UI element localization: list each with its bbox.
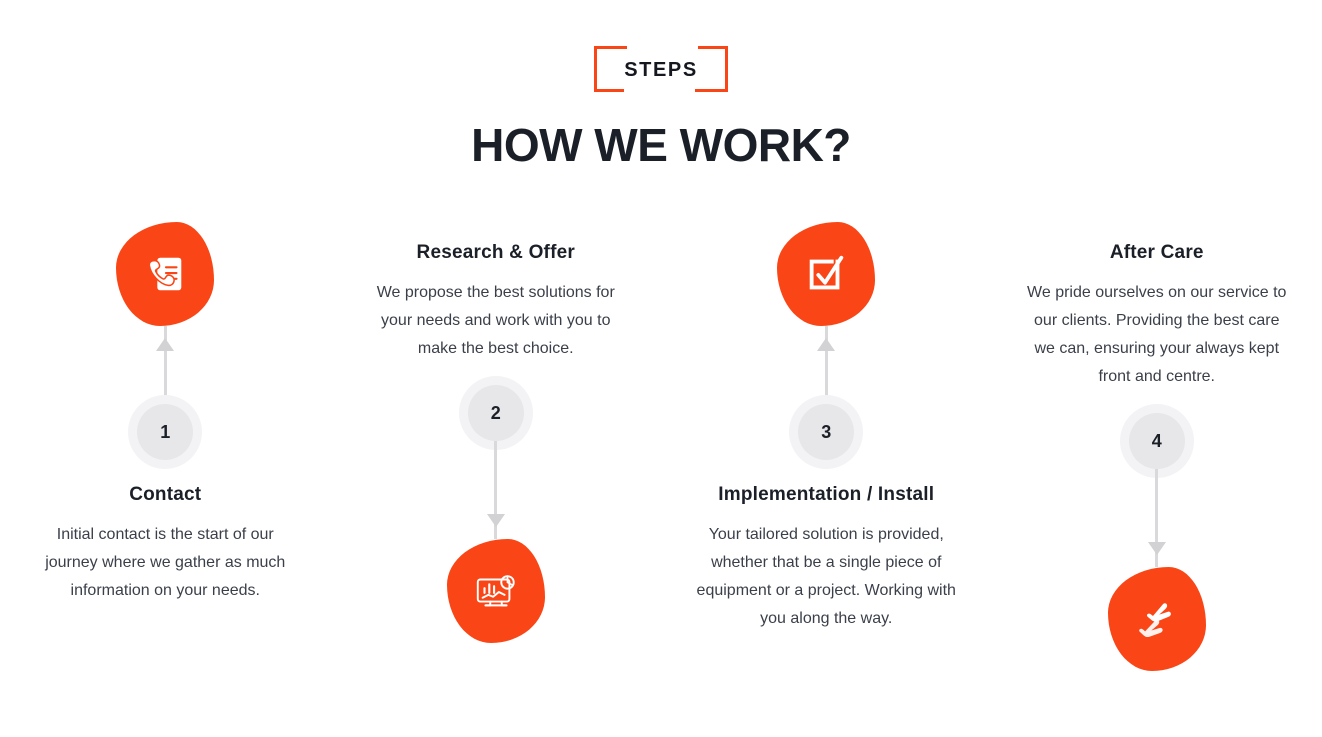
step-number-label: 3 bbox=[821, 422, 831, 443]
step-item-3[interactable]: 3 Implementation / Install Your tailored… bbox=[661, 222, 992, 671]
step-connector-3 bbox=[819, 326, 833, 404]
step-number-badge-4: 4 bbox=[1129, 413, 1185, 469]
checkbox-check-icon bbox=[777, 222, 875, 326]
step-number-badge-3: 3 bbox=[798, 404, 854, 460]
how-we-work-section: STEPS HOW WE WORK? bbox=[0, 0, 1322, 737]
step-connector-2 bbox=[489, 441, 503, 539]
step-number-label: 2 bbox=[491, 403, 501, 424]
step-number-label: 1 bbox=[160, 422, 170, 443]
arrow-up-icon bbox=[817, 338, 835, 351]
badge-corner-top-right bbox=[698, 46, 728, 76]
step-heading-3: Implementation / Install bbox=[718, 484, 934, 506]
step-heading-2: Research & Offer bbox=[417, 242, 575, 264]
step-body-1: Initial contact is the start of our jour… bbox=[31, 521, 299, 605]
steps-list: 1 Contact Initial contact is the start o… bbox=[0, 222, 1322, 671]
step-item-2[interactable]: Research & Offer We propose the best sol… bbox=[331, 222, 662, 671]
analytics-monitor-icon bbox=[447, 539, 545, 643]
step-number-badge-1: 1 bbox=[137, 404, 193, 460]
step-body-3: Your tailored solution is provided, whet… bbox=[692, 521, 960, 633]
step-number-badge-2: 2 bbox=[468, 385, 524, 441]
step-heading-1: Contact bbox=[129, 484, 201, 506]
step-body-4: We pride ourselves on our service to our… bbox=[1023, 279, 1291, 391]
step-connector-1 bbox=[158, 326, 172, 404]
step-item-4[interactable]: After Care We pride ourselves on our ser… bbox=[992, 222, 1322, 671]
arrow-up-icon bbox=[156, 338, 174, 351]
step-item-1[interactable]: 1 Contact Initial contact is the start o… bbox=[0, 222, 331, 671]
arrow-down-icon bbox=[1148, 542, 1166, 555]
step-number-label: 4 bbox=[1152, 431, 1162, 452]
step-heading-4: After Care bbox=[1110, 242, 1204, 264]
step-connector-4 bbox=[1150, 469, 1164, 567]
section-header: STEPS HOW WE WORK? bbox=[0, 0, 1322, 172]
step-body-2: We propose the best solutions for your n… bbox=[362, 279, 630, 363]
badge-corner-bottom-left bbox=[594, 62, 624, 92]
page-title: HOW WE WORK? bbox=[0, 118, 1322, 172]
steps-badge: STEPS bbox=[594, 46, 728, 92]
steps-badge-label: STEPS bbox=[624, 59, 698, 81]
helping-hands-icon bbox=[1108, 567, 1206, 671]
arrow-down-icon bbox=[487, 514, 505, 527]
phone-document-icon bbox=[116, 222, 214, 326]
